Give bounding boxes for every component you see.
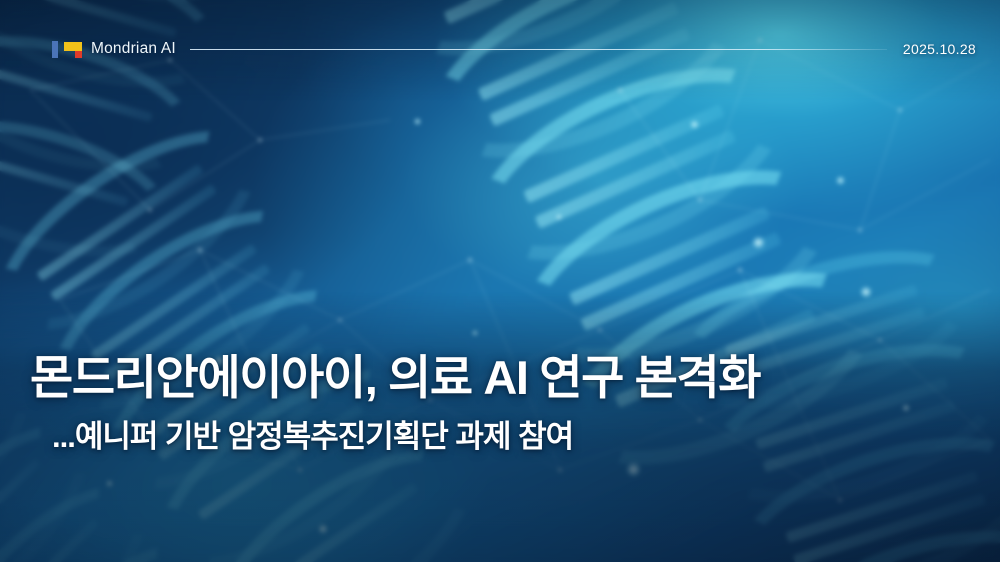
background-gradient [0, 0, 1000, 562]
background-blur [0, 0, 1000, 562]
slide-header: Mondrian AI 2025.10.28 [0, 34, 1000, 64]
bokeh-particles [0, 0, 1000, 562]
network-mesh-overlay [0, 0, 1000, 562]
headline-subtitle: ...예니퍼 기반 암정복추진기획단 과제 참여 [52, 419, 1000, 455]
background-vignette [0, 0, 1000, 562]
dna-helix-group [0, 0, 1000, 562]
brand-logo[interactable]: Mondrian AI [52, 40, 176, 58]
logo-yellow-block [64, 42, 82, 51]
logo-blue-bar [52, 41, 58, 58]
slide-date: 2025.10.28 [903, 41, 976, 57]
logo-red-square [75, 51, 82, 58]
headline-block: 몬드리안에이아이, 의료 AI 연구 본격화 ...예니퍼 기반 암정복추진기획… [0, 352, 1000, 454]
headline-title: 몬드리안에이아이, 의료 AI 연구 본격화 [30, 352, 1000, 405]
news-card-slide: Mondrian AI 2025.10.28 몬드리안에이아이, 의료 AI 연… [0, 0, 1000, 562]
header-divider-line [190, 49, 887, 50]
brand-name-label: Mondrian AI [91, 40, 176, 58]
mondrian-logo-icon [52, 41, 82, 58]
dna-helix-strand [322, 0, 967, 541]
headline-scrim [0, 0, 1000, 562]
dna-helix-strand [0, 54, 577, 562]
